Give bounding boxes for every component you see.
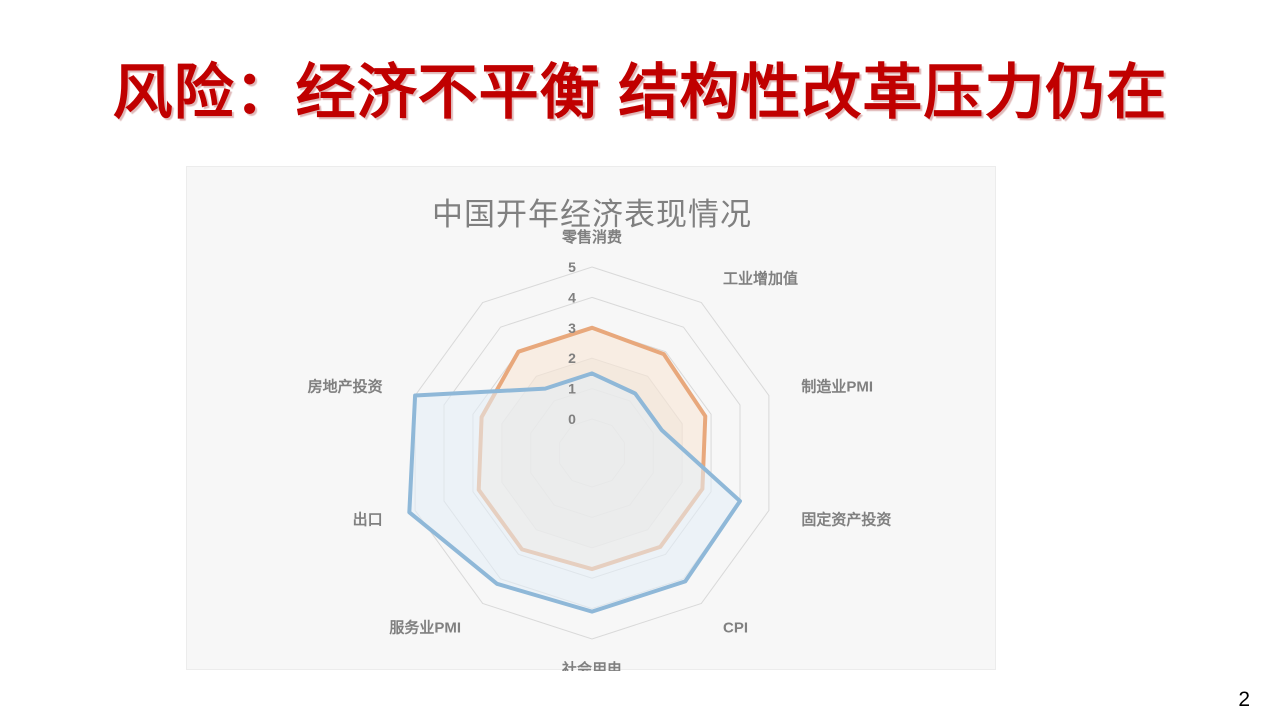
radar-axis-label: 房地产投资: [308, 377, 383, 395]
slide-title: 风险：经济不平衡 结构性改革压力仍在: [0, 58, 1280, 127]
page-number: 2: [1238, 688, 1250, 712]
radar-chart: 012345 零售消费工业增加值制造业PMI固定资产投资CPI社会用电服务业PM…: [187, 167, 997, 671]
radar-tick-label: 2: [568, 350, 576, 366]
radar-axis-label: CPI: [723, 620, 748, 637]
radar-tick-label: 3: [568, 320, 576, 336]
radar-axis-label: 固定资产投资: [801, 511, 891, 529]
radar-tick-label: 5: [568, 259, 576, 275]
radar-axis-label: 零售消费: [561, 228, 622, 246]
radar-tick-label: 1: [568, 381, 576, 397]
radar-axis-label: 工业增加值: [723, 269, 798, 287]
chart-card: 中国开年经济表现情况 012345 零售消费工业增加值制造业PMI固定资产投资C…: [186, 166, 996, 670]
radar-axis-label: 服务业PMI: [389, 619, 461, 637]
radar-series-group: [409, 328, 740, 612]
radar-axis-label: 出口: [353, 511, 383, 529]
radar-axis-label: 制造业PMI: [801, 377, 873, 395]
radar-tick-label: 4: [568, 289, 576, 305]
radar-axis-label: 社会用电: [561, 660, 622, 671]
radar-tick-label: 0: [568, 411, 576, 427]
